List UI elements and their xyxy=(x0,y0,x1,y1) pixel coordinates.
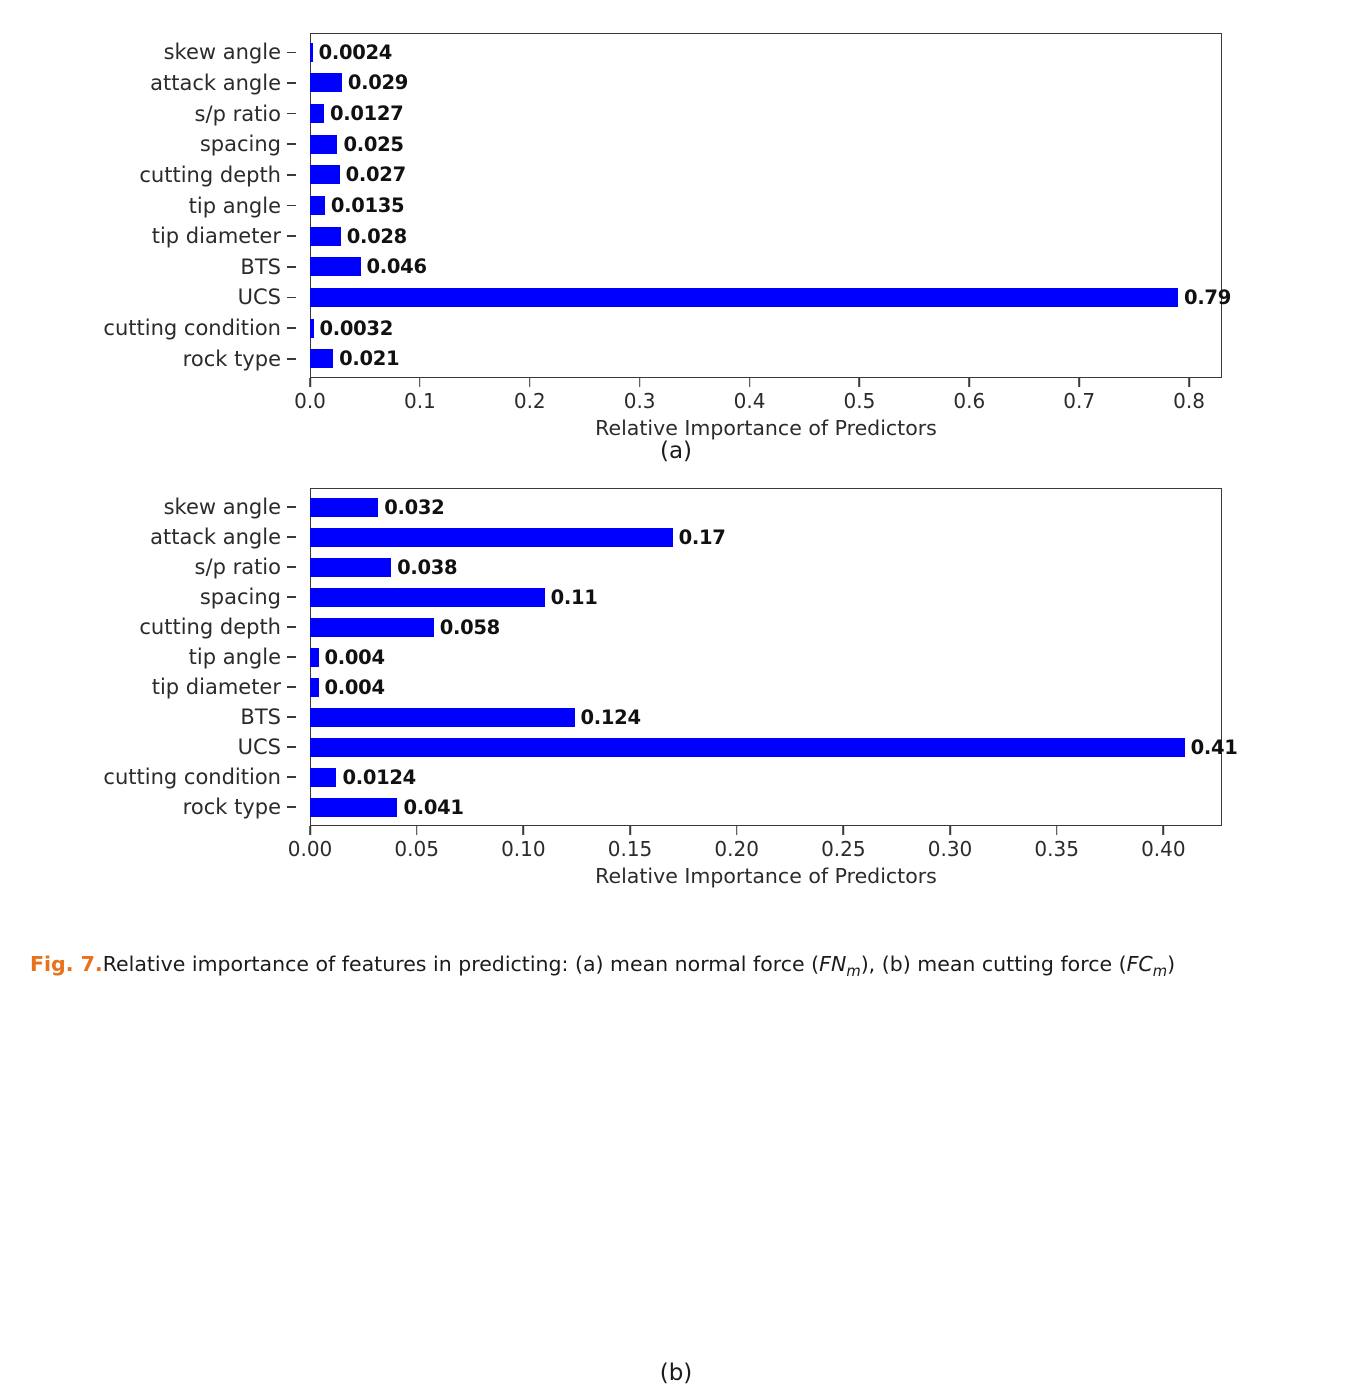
y-tick-label: skew angle xyxy=(164,40,281,64)
y-tick-s-p-ratio: s/p ratio xyxy=(0,552,298,582)
bar-row: 0.11 xyxy=(310,582,1222,612)
bar-row: 0.41 xyxy=(310,732,1222,762)
bar xyxy=(310,558,391,577)
y-tick-label: tip diameter xyxy=(152,675,281,699)
x-tick-mark xyxy=(419,378,421,387)
bar xyxy=(310,648,319,667)
plot-area-a: skew angleattack angles/p ratiospacingcu… xyxy=(310,33,1222,378)
y-tick-skew-angle: skew angle xyxy=(0,492,298,522)
bar-value-label: 0.041 xyxy=(403,796,463,819)
y-tick-mark xyxy=(287,52,296,54)
x-tick-label: 0.3 xyxy=(624,389,656,413)
y-tick-label: spacing xyxy=(200,585,281,609)
bar-value-label: 0.79 xyxy=(1184,286,1231,309)
x-tick-mark xyxy=(416,826,418,835)
y-tick-UCS: UCS xyxy=(0,282,298,313)
bar-value-label: 0.029 xyxy=(348,71,408,94)
x-tick-mark xyxy=(859,378,861,387)
y-tick-s-p-ratio: s/p ratio xyxy=(0,98,298,129)
caption-text-2: ), (b) mean cutting force ( xyxy=(861,952,1127,976)
bar xyxy=(310,738,1185,757)
bar-value-label: 0.032 xyxy=(384,496,444,519)
y-tick-rock-type: rock type xyxy=(0,792,298,822)
x-tick-label: 0.05 xyxy=(394,837,439,861)
bar-value-label: 0.025 xyxy=(343,133,403,156)
x-tick-mark xyxy=(523,826,525,835)
x-tick-label: 0.30 xyxy=(928,837,973,861)
y-tick-label: cutting condition xyxy=(103,316,281,340)
y-tick-label: cutting depth xyxy=(139,615,281,639)
figure-number: Fig. 7. xyxy=(30,952,103,976)
bar xyxy=(310,349,333,368)
bar-row: 0.0135 xyxy=(310,190,1222,221)
bar-rows-b: 0.0320.170.0380.110.0580.0040.0040.1240.… xyxy=(310,488,1222,826)
bar xyxy=(310,678,319,697)
figure-7: skew angleattack angles/p ratiospacingcu… xyxy=(0,0,1352,1002)
x-tick-label: 0.7 xyxy=(1063,389,1095,413)
bar-row: 0.058 xyxy=(310,612,1222,642)
x-axis-title-b: Relative Importance of Predictors xyxy=(310,864,1222,888)
x-axis-a: Relative Importance of Predictors 0.00.1… xyxy=(310,378,1222,424)
y-axis-tick-labels-a: skew angleattack angles/p ratiospacingcu… xyxy=(0,33,298,378)
bar-rows-a: 0.00240.0290.01270.0250.0270.01350.0280.… xyxy=(310,33,1222,378)
bar-value-label: 0.0135 xyxy=(331,194,404,217)
bar xyxy=(310,768,336,787)
x-axis-title-a: Relative Importance of Predictors xyxy=(310,416,1222,440)
y-tick-label: rock type xyxy=(183,795,281,819)
x-tick-label: 0.15 xyxy=(608,837,653,861)
bar xyxy=(310,43,313,62)
x-tick-label: 0.25 xyxy=(821,837,866,861)
bar xyxy=(310,528,673,547)
bar xyxy=(310,319,314,338)
x-tick-label: 0.2 xyxy=(514,389,546,413)
y-tick-BTS: BTS xyxy=(0,251,298,282)
y-tick-mark xyxy=(287,686,296,688)
y-tick-mark xyxy=(287,266,296,268)
x-tick-mark xyxy=(629,826,631,835)
bar-row: 0.041 xyxy=(310,792,1222,822)
bar-row: 0.0124 xyxy=(310,762,1222,792)
y-tick-label: BTS xyxy=(240,705,281,729)
x-tick-label: 0.00 xyxy=(288,837,333,861)
chart-panel-b: skew angleattack angles/p ratiospacingcu… xyxy=(0,470,1352,940)
y-tick-tip-diameter: tip diameter xyxy=(0,221,298,252)
y-tick-label: spacing xyxy=(200,132,281,156)
y-tick-label: skew angle xyxy=(164,495,281,519)
caption-text-1: Relative importance of features in predi… xyxy=(103,952,819,976)
bar-value-label: 0.17 xyxy=(679,526,726,549)
bar xyxy=(310,165,340,184)
bar-value-label: 0.41 xyxy=(1191,736,1238,759)
bar-value-label: 0.124 xyxy=(581,706,641,729)
x-tick-mark xyxy=(529,378,531,387)
x-tick-label: 0.8 xyxy=(1173,389,1205,413)
x-axis-b: Relative Importance of Predictors 0.000.… xyxy=(310,826,1222,872)
y-tick-label: tip diameter xyxy=(152,224,281,248)
x-tick-label: 0.10 xyxy=(501,837,546,861)
y-tick-mark xyxy=(287,776,296,778)
y-tick-label: s/p ratio xyxy=(195,102,281,126)
x-tick-mark xyxy=(639,378,641,387)
bar-value-label: 0.004 xyxy=(325,676,385,699)
x-tick-mark xyxy=(309,826,311,835)
bar-value-label: 0.058 xyxy=(440,616,500,639)
bar xyxy=(310,708,575,727)
bar-row: 0.021 xyxy=(310,343,1222,374)
y-tick-label: tip angle xyxy=(189,645,281,669)
bar-row: 0.046 xyxy=(310,251,1222,282)
y-tick-rock-type: rock type xyxy=(0,343,298,374)
y-tick-mark xyxy=(287,746,296,748)
y-tick-label: s/p ratio xyxy=(195,555,281,579)
bar xyxy=(310,227,341,246)
y-tick-mark xyxy=(287,297,296,299)
bar-row: 0.004 xyxy=(310,672,1222,702)
y-tick-mark xyxy=(287,113,296,115)
y-tick-cutting-condition: cutting condition xyxy=(0,762,298,792)
bar-row: 0.124 xyxy=(310,702,1222,732)
y-tick-mark xyxy=(287,358,296,360)
bar xyxy=(310,588,545,607)
y-tick-label: BTS xyxy=(240,255,281,279)
x-tick-mark xyxy=(309,378,311,387)
y-tick-label: attack angle xyxy=(150,525,281,549)
bar-row: 0.029 xyxy=(310,68,1222,99)
bar-value-label: 0.0124 xyxy=(342,766,415,789)
subplot-tag-b: (b) xyxy=(0,1360,1352,1386)
y-tick-mark xyxy=(287,205,296,207)
bar xyxy=(310,288,1178,307)
bar xyxy=(310,498,378,517)
y-tick-cutting-depth: cutting depth xyxy=(0,160,298,191)
bar-value-label: 0.038 xyxy=(397,556,457,579)
bar xyxy=(310,618,434,637)
symbol-fnm: FN xyxy=(819,952,846,976)
y-tick-mark xyxy=(287,536,296,538)
bar xyxy=(310,135,337,154)
bar-value-label: 0.021 xyxy=(339,347,399,370)
y-tick-mark xyxy=(287,143,296,145)
y-tick-mark xyxy=(287,626,296,628)
bar xyxy=(310,798,397,817)
y-tick-mark xyxy=(287,806,296,808)
bar-value-label: 0.004 xyxy=(325,646,385,669)
y-tick-skew-angle: skew angle xyxy=(0,37,298,68)
y-tick-UCS: UCS xyxy=(0,732,298,762)
bar-row: 0.028 xyxy=(310,221,1222,252)
y-tick-label: rock type xyxy=(183,347,281,371)
bar-row: 0.0032 xyxy=(310,313,1222,344)
caption-text-3: ) xyxy=(1167,952,1175,976)
y-tick-label: cutting depth xyxy=(139,163,281,187)
bar-value-label: 0.11 xyxy=(551,586,598,609)
x-tick-mark xyxy=(1163,826,1165,835)
y-axis-tick-labels-b: skew angleattack angles/p ratiospacingcu… xyxy=(0,488,298,826)
bar-value-label: 0.046 xyxy=(367,255,427,278)
bar xyxy=(310,196,325,215)
x-tick-mark xyxy=(1056,826,1058,835)
x-tick-mark xyxy=(949,826,951,835)
bar-value-label: 0.0127 xyxy=(330,102,403,125)
y-tick-mark xyxy=(287,596,296,598)
y-tick-tip-angle: tip angle xyxy=(0,642,298,672)
subplot-tag-a: (a) xyxy=(0,438,1352,464)
bar-row: 0.025 xyxy=(310,129,1222,160)
y-tick-attack-angle: attack angle xyxy=(0,68,298,99)
y-tick-label: tip angle xyxy=(189,194,281,218)
symbol-fcm: FC xyxy=(1127,952,1153,976)
x-tick-mark xyxy=(736,826,738,835)
bar xyxy=(310,104,324,123)
y-tick-mark xyxy=(287,506,296,508)
y-tick-tip-diameter: tip diameter xyxy=(0,672,298,702)
x-tick-mark xyxy=(1078,378,1080,387)
y-tick-spacing: spacing xyxy=(0,582,298,612)
x-tick-mark xyxy=(1188,378,1190,387)
y-tick-label: UCS xyxy=(238,735,281,759)
plot-area-b: skew angleattack angles/p ratiospacingcu… xyxy=(310,488,1222,826)
y-tick-mark xyxy=(287,235,296,237)
bar-row: 0.0127 xyxy=(310,98,1222,129)
bar-value-label: 0.028 xyxy=(347,225,407,248)
bar-row: 0.027 xyxy=(310,160,1222,191)
y-tick-BTS: BTS xyxy=(0,702,298,732)
y-tick-mark xyxy=(287,566,296,568)
bar-row: 0.17 xyxy=(310,522,1222,552)
x-tick-label: 0.20 xyxy=(714,837,759,861)
bar-row: 0.004 xyxy=(310,642,1222,672)
y-tick-mark xyxy=(287,82,296,84)
y-tick-cutting-condition: cutting condition xyxy=(0,313,298,344)
bar-row: 0.79 xyxy=(310,282,1222,313)
bar-row: 0.038 xyxy=(310,552,1222,582)
symbol-fcm-sub: m xyxy=(1153,963,1167,980)
y-tick-cutting-depth: cutting depth xyxy=(0,612,298,642)
bar-value-label: 0.0032 xyxy=(320,317,393,340)
x-tick-label: 0.35 xyxy=(1034,837,1079,861)
y-tick-label: cutting condition xyxy=(103,765,281,789)
x-tick-label: 0.4 xyxy=(734,389,766,413)
bar-row: 0.0024 xyxy=(310,37,1222,68)
y-tick-tip-angle: tip angle xyxy=(0,190,298,221)
chart-panel-a: skew angleattack angles/p ratiospacingcu… xyxy=(0,0,1352,470)
bar-value-label: 0.027 xyxy=(346,163,406,186)
symbol-fnm-sub: m xyxy=(846,963,860,980)
x-tick-label: 0.6 xyxy=(953,389,985,413)
x-tick-label: 0.40 xyxy=(1141,837,1186,861)
x-tick-label: 0.0 xyxy=(294,389,326,413)
bar xyxy=(310,257,361,276)
bar xyxy=(310,73,342,92)
y-tick-attack-angle: attack angle xyxy=(0,522,298,552)
y-tick-label: attack angle xyxy=(150,71,281,95)
y-tick-mark xyxy=(287,656,296,658)
x-tick-label: 0.5 xyxy=(843,389,875,413)
x-tick-label: 0.1 xyxy=(404,389,436,413)
y-tick-mark xyxy=(287,327,296,329)
y-tick-mark xyxy=(287,174,296,176)
x-tick-mark xyxy=(749,378,751,387)
x-tick-mark xyxy=(968,378,970,387)
y-tick-spacing: spacing xyxy=(0,129,298,160)
x-tick-mark xyxy=(843,826,845,835)
figure-caption: Fig. 7.Relative importance of features i… xyxy=(30,952,1340,982)
y-tick-label: UCS xyxy=(238,285,281,309)
bar-row: 0.032 xyxy=(310,492,1222,522)
bar-value-label: 0.0024 xyxy=(319,41,392,64)
y-tick-mark xyxy=(287,716,296,718)
